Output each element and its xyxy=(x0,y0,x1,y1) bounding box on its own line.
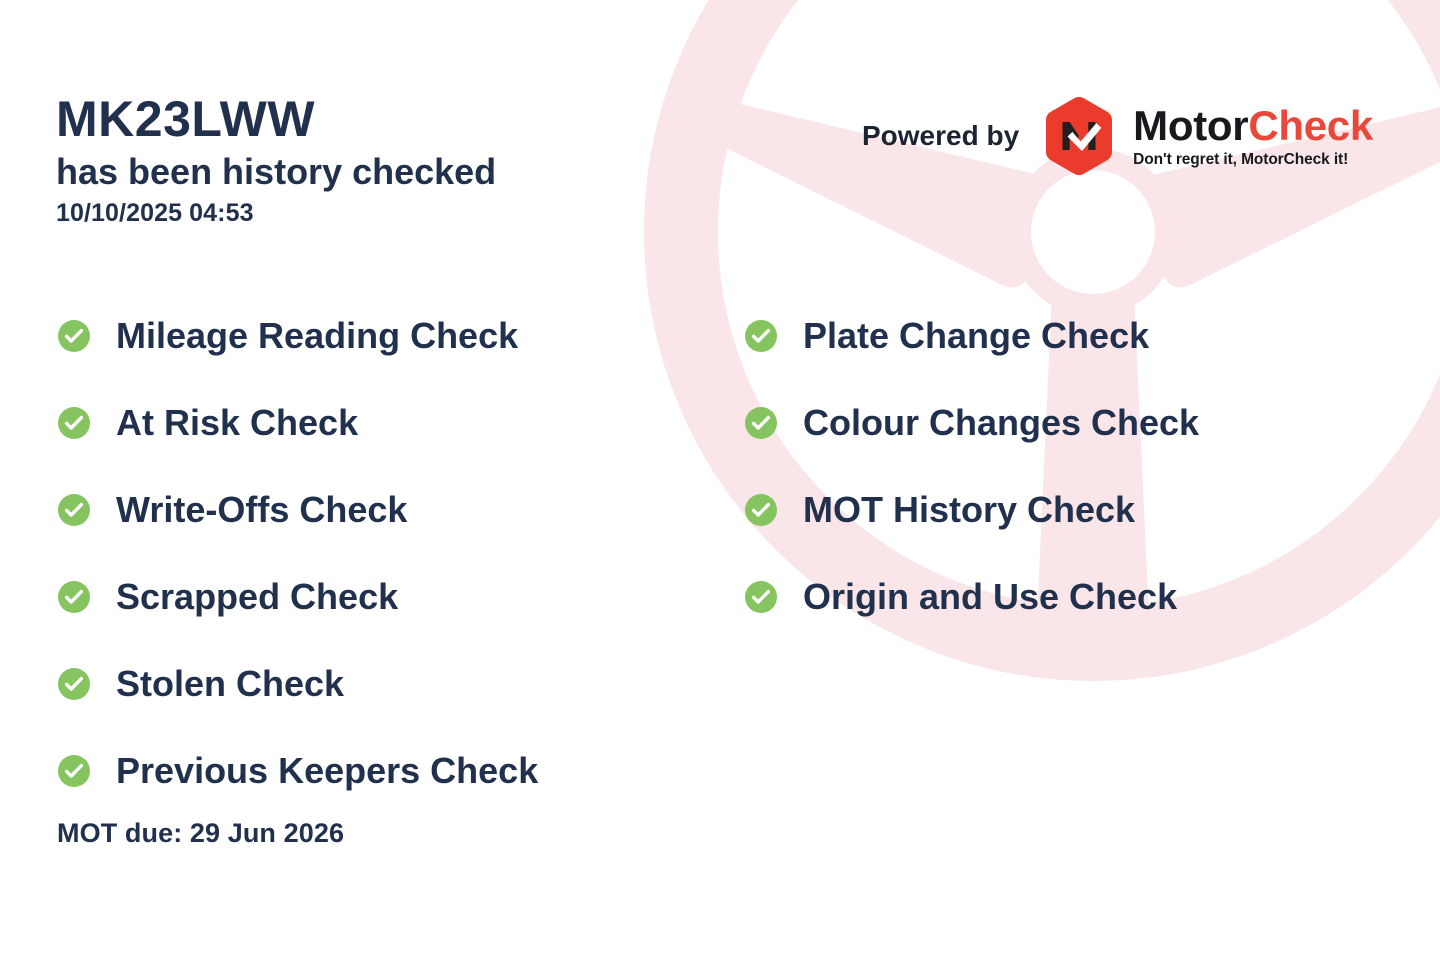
check-list-item: Mileage Reading Check xyxy=(58,292,718,379)
check-list-item: Stolen Check xyxy=(58,640,718,727)
check-label: MOT History Check xyxy=(803,492,1135,528)
page-subtitle: has been history checked xyxy=(56,150,716,193)
powered-by-label: Powered by xyxy=(862,120,1019,152)
wordmark-text: MotorCheck xyxy=(1133,105,1373,147)
page-title-registration-plate: MK23LWW xyxy=(56,92,716,146)
check-circle-icon xyxy=(58,668,90,700)
header-block: MK23LWW has been history checked 10/10/2… xyxy=(56,92,716,228)
check-label: Colour Changes Check xyxy=(803,405,1199,441)
checks-right-column: Plate Change Check Colour Changes Check … xyxy=(745,292,1405,640)
check-list-item: MOT History Check xyxy=(745,466,1405,553)
brand-tagline: Don't regret it, MotorCheck it! xyxy=(1133,152,1373,168)
wordmark-check: Check xyxy=(1248,102,1373,149)
check-label: Write-Offs Check xyxy=(116,492,407,528)
check-list-item: Previous Keepers Check xyxy=(58,727,718,814)
history-check-summary-card: MK23LWW has been history checked 10/10/2… xyxy=(0,0,1440,960)
check-label: Previous Keepers Check xyxy=(116,753,538,789)
check-circle-icon xyxy=(58,407,90,439)
motorcheck-hexagon-logo-icon xyxy=(1041,96,1117,176)
check-list-item: Write-Offs Check xyxy=(58,466,718,553)
check-label: Mileage Reading Check xyxy=(116,318,518,354)
mot-due-date: MOT due: 29 Jun 2026 xyxy=(57,818,344,849)
check-circle-icon xyxy=(745,320,777,352)
check-label: At Risk Check xyxy=(116,405,358,441)
check-label: Scrapped Check xyxy=(116,579,398,615)
motorcheck-logo[interactable]: MotorCheck Don't regret it, MotorCheck i… xyxy=(1041,96,1373,176)
check-circle-icon xyxy=(58,581,90,613)
check-list-item: Colour Changes Check xyxy=(745,379,1405,466)
check-circle-icon xyxy=(745,581,777,613)
check-label: Plate Change Check xyxy=(803,318,1149,354)
check-label: Stolen Check xyxy=(116,666,344,702)
motorcheck-wordmark: MotorCheck Don't regret it, MotorCheck i… xyxy=(1133,105,1373,168)
check-circle-icon xyxy=(745,494,777,526)
wordmark-motor: Motor xyxy=(1133,102,1248,149)
check-timestamp: 10/10/2025 04:53 xyxy=(56,199,716,228)
powered-by-block: Powered by MotorCheck Don't regret it, M… xyxy=(862,96,1373,176)
check-circle-icon xyxy=(745,407,777,439)
check-label: Origin and Use Check xyxy=(803,579,1177,615)
check-circle-icon xyxy=(58,494,90,526)
check-list-item: Plate Change Check xyxy=(745,292,1405,379)
check-list-item: Origin and Use Check xyxy=(745,553,1405,640)
check-list-item: Scrapped Check xyxy=(58,553,718,640)
checks-left-column: Mileage Reading Check At Risk Check Writ… xyxy=(58,292,718,814)
check-circle-icon xyxy=(58,320,90,352)
check-circle-icon xyxy=(58,755,90,787)
check-list-item: At Risk Check xyxy=(58,379,718,466)
